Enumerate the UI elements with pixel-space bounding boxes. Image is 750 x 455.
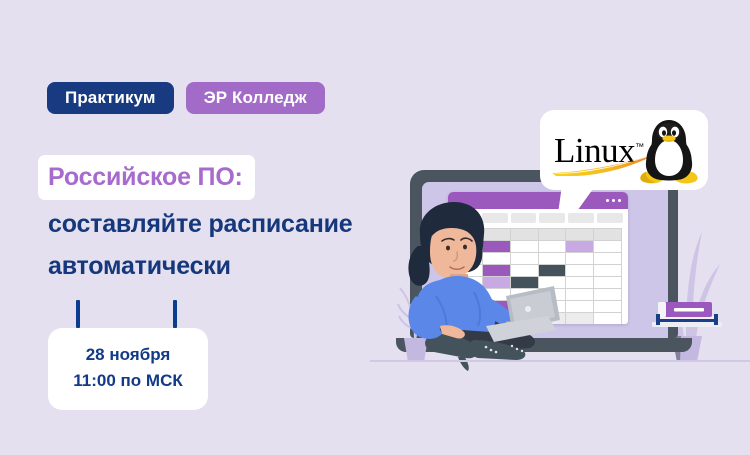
spreadsheet-cell[interactable] [566,277,594,289]
promo-banner: Практикум ЭР Колледж Российское ПО: сост… [0,0,750,455]
spreadsheet-cell[interactable] [594,301,622,313]
spreadsheet-cell[interactable] [566,253,594,265]
book-stack-icon [650,300,724,330]
spreadsheet-cell[interactable] [566,241,594,253]
headline-line-2: составляйте расписание [40,206,420,242]
headline-line-3: автоматически [40,248,420,284]
illustration: Linux™ [370,0,750,455]
date-block: 28 ноября 11:00 по МСК [48,300,208,410]
spreadsheet-cell[interactable] [594,265,622,277]
pin-group [48,300,208,328]
woman-with-laptop [378,200,568,372]
spreadsheet-cell[interactable] [594,253,622,265]
spreadsheet-cell[interactable] [594,241,622,253]
page-title: Российское ПО: составляйте расписание ав… [40,155,420,284]
spreadsheet-cell[interactable] [566,265,594,277]
headline-line-1: Российское ПО: [40,155,420,200]
spreadsheet-tab[interactable] [568,213,594,223]
window-dot-icon [606,199,609,202]
bubble-tail [558,188,593,212]
spreadsheet-cell[interactable] [566,313,594,324]
spreadsheet-cell[interactable] [566,229,594,241]
spreadsheet-cell[interactable] [594,229,622,241]
event-date: 28 ноября [58,342,198,368]
spreadsheet-cell[interactable] [566,289,594,301]
floor-line [370,360,750,362]
linux-speech-bubble: Linux™ [540,110,708,190]
content-column: Практикум ЭР Колледж Российское ПО: сост… [0,0,420,455]
headline-highlight: Российское ПО: [38,155,255,200]
badge-practicum[interactable]: Практикум [47,82,174,114]
pin-right-icon [173,300,177,328]
pin-left-icon [76,300,80,328]
spreadsheet-cell[interactable] [594,313,622,324]
window-dot-icon [618,199,621,202]
badge-college[interactable]: ЭР Колледж [186,82,325,114]
spreadsheet-cell[interactable] [594,289,622,301]
event-time: 11:00 по МСК [58,368,198,394]
window-dot-icon [612,199,615,202]
spreadsheet-cell[interactable] [594,277,622,289]
tux-penguin-icon [638,116,700,186]
badge-row: Практикум ЭР Колледж [47,82,325,114]
spreadsheet-tab[interactable] [597,213,623,223]
event-date-card: 28 ноября 11:00 по МСК [48,328,208,410]
spreadsheet-cell[interactable] [566,301,594,313]
